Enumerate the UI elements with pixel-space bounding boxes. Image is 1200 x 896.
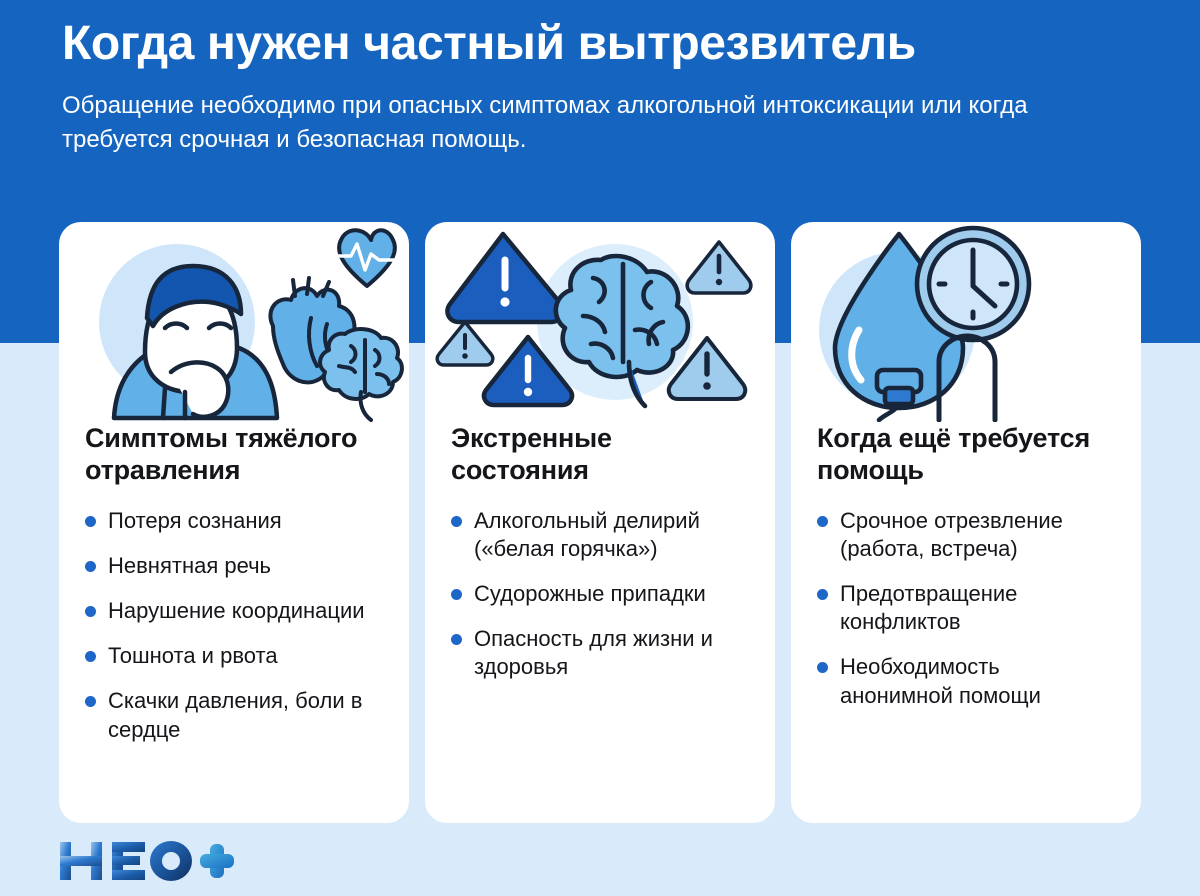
list-item: Предотвращение конфликтов [817,580,1115,636]
logo-text: НЕО+ [58,884,59,885]
clock-icon [917,228,1029,340]
logo-letter-e [112,842,145,880]
header: Когда нужен частный вытрезвитель Обращен… [62,16,1152,157]
bullet-dot-icon [85,561,96,572]
bullet-dot-icon [817,516,828,527]
list-item: Срочное отрезвление (работа, встреча) [817,507,1115,563]
card-emergency-states[interactable]: Экстренные состояния Алкогольный делирий… [425,222,775,823]
bullet-dot-icon [451,589,462,600]
card-1-illustration [59,222,409,422]
card-severe-poisoning[interactable]: Симптомы тяжёлого отравления Потеря созн… [59,222,409,823]
bullet-dot-icon [85,516,96,527]
bullet-text: Потеря сознания [108,507,282,535]
card-1-body: Симптомы тяжёлого отравления Потеря созн… [59,422,409,823]
bullet-dot-icon [451,516,462,527]
list-item: Нарушение координации [85,597,383,625]
card-2-body: Экстренные состояния Алкогольный делирий… [425,422,775,823]
bullet-text: Предотвращение конфликтов [840,580,1115,636]
card-1-bullet-list: Потеря сознания Невнятная речь Нарушение… [85,507,383,744]
logo-plus-icon [200,844,234,878]
list-item: Необходимость анонимной помощи [817,653,1115,709]
bullet-text: Тошнота и рвота [108,642,278,670]
card-3-title: Когда ещё требуется помощь [817,422,1115,487]
card-2-bullet-list: Алкогольный делирий («белая горячка») Су… [451,507,749,682]
bullet-text: Срочное отрезвление (работа, встреча) [840,507,1115,563]
card-1-title: Симптомы тяжёлого отравления [85,422,383,487]
list-item: Тошнота и рвота [85,642,383,670]
page-title: Когда нужен частный вытрезвитель [62,16,1152,71]
list-item: Алкогольный делирий («белая горячка») [451,507,749,563]
card-2-illustration [425,222,775,422]
bullet-dot-icon [451,634,462,645]
page-subtitle: Обращение необходимо при опасных симптом… [62,89,1072,157]
bullet-text: Судорожные припадки [474,580,706,608]
card-3-body: Когда ещё требуется помощь Срочное отрез… [791,422,1141,823]
bullet-dot-icon [85,606,96,617]
logo-letter-o [150,841,192,881]
list-item: Невнятная речь [85,552,383,580]
bullet-text: Нарушение координации [108,597,365,625]
bullet-text: Скачки давления, боли в сердце [108,687,383,743]
heartbeat-pulse-icon [333,230,403,286]
bullet-dot-icon [817,662,828,673]
list-item: Скачки давления, боли в сердце [85,687,383,743]
warning-triangle-icon [437,322,493,365]
card-2-title: Экстренные состояния [451,422,749,487]
brand-logo[interactable]: НЕО+ [58,838,238,884]
warning-triangle-icon [687,242,751,293]
bullet-text: Необходимость анонимной помощи [840,653,1115,709]
card-3-bullet-list: Срочное отрезвление (работа, встреча) Пр… [817,507,1115,710]
bullet-text: Невнятная речь [108,552,271,580]
cards-container: Симптомы тяжёлого отравления Потеря созн… [59,222,1141,823]
list-item: Судорожные припадки [451,580,749,608]
card-when-else-help-needed[interactable]: Когда ещё требуется помощь Срочное отрез… [791,222,1141,823]
card-3-illustration [791,222,1141,422]
bullet-text: Алкогольный делирий («белая горячка») [474,507,749,563]
list-item: Опасность для жизни и здоровья [451,625,749,681]
logo-letter-n [60,842,102,880]
list-item: Потеря сознания [85,507,383,535]
bullet-text: Опасность для жизни и здоровья [474,625,749,681]
brain-icon [320,329,402,420]
warning-triangle-icon [447,234,563,322]
bullet-dot-icon [85,696,96,707]
bullet-dot-icon [817,589,828,600]
bullet-dot-icon [85,651,96,662]
